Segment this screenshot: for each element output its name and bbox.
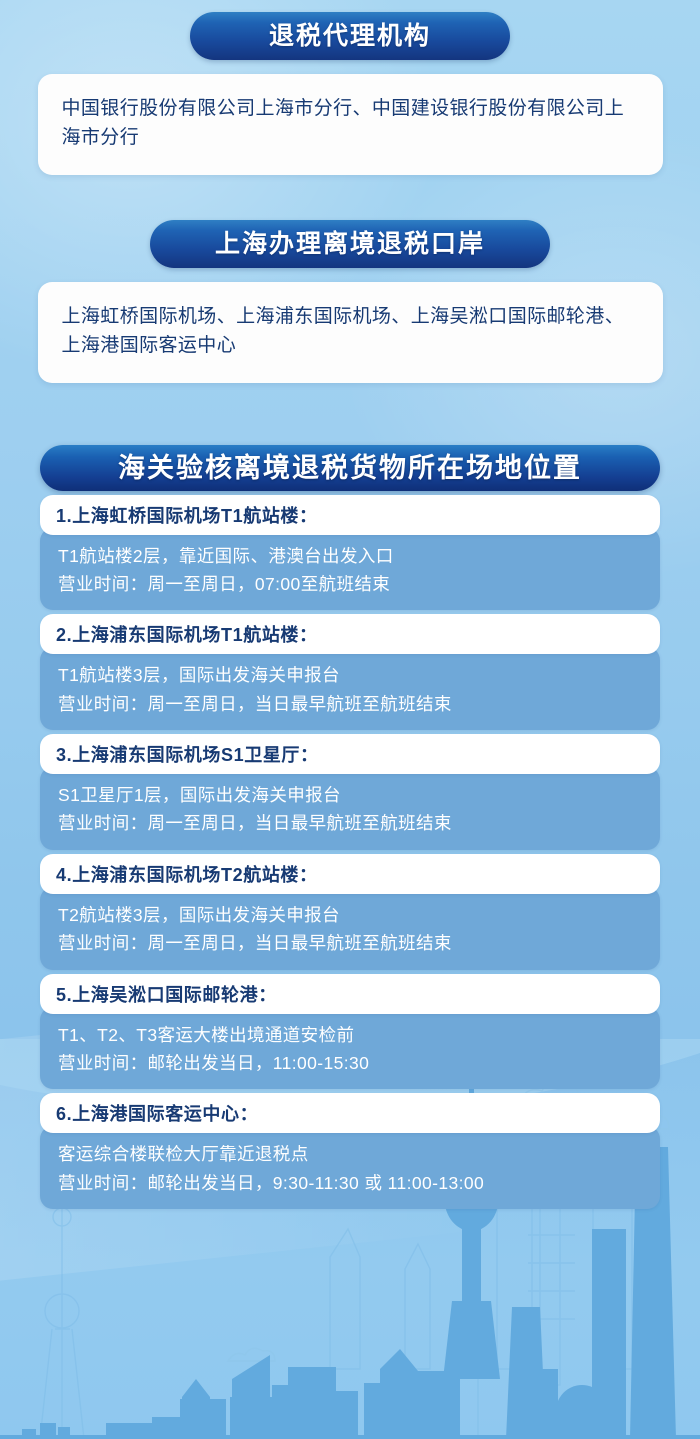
list-item-location: T1、T2、T3客运大楼出境通道安检前 bbox=[58, 1021, 642, 1049]
list-item-location: T1航站楼3层，国际出发海关申报台 bbox=[58, 661, 642, 689]
list-item-location: T2航站楼3层，国际出发海关申报台 bbox=[58, 901, 642, 929]
section-tax-refund-agencies: 退税代理机构 中国银行股份有限公司上海市分行、中国建设银行股份有限公司上海市分行 bbox=[0, 12, 700, 175]
section-title-tax-refund-agencies: 退税代理机构 bbox=[190, 12, 510, 60]
list-item-location: T1航站楼2层，靠近国际、港澳台出发入口 bbox=[58, 542, 642, 570]
list-item: 5.上海吴淞口国际邮轮港： T1、T2、T3客运大楼出境通道安检前 营业时间：邮… bbox=[40, 974, 660, 1090]
list-item: 3.上海浦东国际机场S1卫星厅： S1卫星厅1层，国际出发海关申报台 营业时间：… bbox=[40, 734, 660, 850]
list-item-location: 客运综合楼联检大厅靠近退税点 bbox=[58, 1140, 642, 1168]
card-text-departure-tax-refund-ports: 上海虹桥国际机场、上海浦东国际机场、上海吴淞口国际邮轮港、上海港国际客运中心 bbox=[62, 302, 639, 361]
section-customs-verification-locations: 海关验核离境退税货物所在场地位置 1.上海虹桥国际机场T1航站楼： T1航站楼2… bbox=[40, 445, 660, 1209]
list-item-heading: 6.上海港国际客运中心： bbox=[40, 1093, 660, 1133]
list-item-heading: 5.上海吴淞口国际邮轮港： bbox=[40, 974, 660, 1014]
list-item-location: S1卫星厅1层，国际出发海关申报台 bbox=[58, 781, 642, 809]
list-item-heading: 2.上海浦东国际机场T1航站楼： bbox=[40, 614, 660, 654]
list-item-hours: 营业时间：周一至周日，07:00至航班结束 bbox=[58, 570, 642, 598]
list-item-hours: 营业时间：周一至周日，当日最早航班至航班结束 bbox=[58, 809, 642, 837]
list-item-hours: 营业时间：周一至周日，当日最早航班至航班结束 bbox=[58, 929, 642, 957]
list-item-body: T1航站楼3层，国际出发海关申报台 营业时间：周一至周日，当日最早航班至航班结束 bbox=[40, 647, 660, 730]
list-item-hours: 营业时间：邮轮出发当日，11:00-15:30 bbox=[58, 1049, 642, 1077]
list-item-hours: 营业时间：周一至周日，当日最早航班至航班结束 bbox=[58, 690, 642, 718]
section-departure-tax-refund-ports: 上海办理离境退税口岸 上海虹桥国际机场、上海浦东国际机场、上海吴淞口国际邮轮港、… bbox=[0, 220, 700, 383]
card-departure-tax-refund-ports: 上海虹桥国际机场、上海浦东国际机场、上海吴淞口国际邮轮港、上海港国际客运中心 bbox=[38, 282, 663, 383]
list-item-body: T2航站楼3层，国际出发海关申报台 营业时间：周一至周日，当日最早航班至航班结束 bbox=[40, 887, 660, 970]
list-item: 2.上海浦东国际机场T1航站楼： T1航站楼3层，国际出发海关申报台 营业时间：… bbox=[40, 614, 660, 730]
list-item-heading: 4.上海浦东国际机场T2航站楼： bbox=[40, 854, 660, 894]
list-item: 1.上海虹桥国际机场T1航站楼： T1航站楼2层，靠近国际、港澳台出发入口 营业… bbox=[40, 495, 660, 611]
list-item-body: T1、T2、T3客运大楼出境通道安检前 营业时间：邮轮出发当日，11:00-15… bbox=[40, 1007, 660, 1090]
list-item-hours: 营业时间：邮轮出发当日，9:30-11:30 或 11:00-13:00 bbox=[58, 1169, 642, 1197]
list-item-body: T1航站楼2层，靠近国际、港澳台出发入口 营业时间：周一至周日，07:00至航班… bbox=[40, 528, 660, 611]
card-tax-refund-agencies: 中国银行股份有限公司上海市分行、中国建设银行股份有限公司上海市分行 bbox=[38, 74, 663, 175]
section-title-departure-tax-refund-ports: 上海办理离境退税口岸 bbox=[150, 220, 550, 268]
list-item: 6.上海港国际客运中心： 客运综合楼联检大厅靠近退税点 营业时间：邮轮出发当日，… bbox=[40, 1093, 660, 1209]
section-title-customs-verification-locations: 海关验核离境退税货物所在场地位置 bbox=[40, 445, 660, 491]
infographic-page: 退税代理机构 中国银行股份有限公司上海市分行、中国建设银行股份有限公司上海市分行… bbox=[0, 0, 700, 1439]
card-text-tax-refund-agencies: 中国银行股份有限公司上海市分行、中国建设银行股份有限公司上海市分行 bbox=[62, 94, 639, 153]
list-item-heading: 1.上海虹桥国际机场T1航站楼： bbox=[40, 495, 660, 535]
list-item-body: S1卫星厅1层，国际出发海关申报台 营业时间：周一至周日，当日最早航班至航班结束 bbox=[40, 767, 660, 850]
content-column: 退税代理机构 中国银行股份有限公司上海市分行、中国建设银行股份有限公司上海市分行… bbox=[0, 0, 700, 1209]
list-item-body: 客运综合楼联检大厅靠近退税点 营业时间：邮轮出发当日，9:30-11:30 或 … bbox=[40, 1126, 660, 1209]
list-item: 4.上海浦东国际机场T2航站楼： T2航站楼3层，国际出发海关申报台 营业时间：… bbox=[40, 854, 660, 970]
list-item-heading: 3.上海浦东国际机场S1卫星厅： bbox=[40, 734, 660, 774]
